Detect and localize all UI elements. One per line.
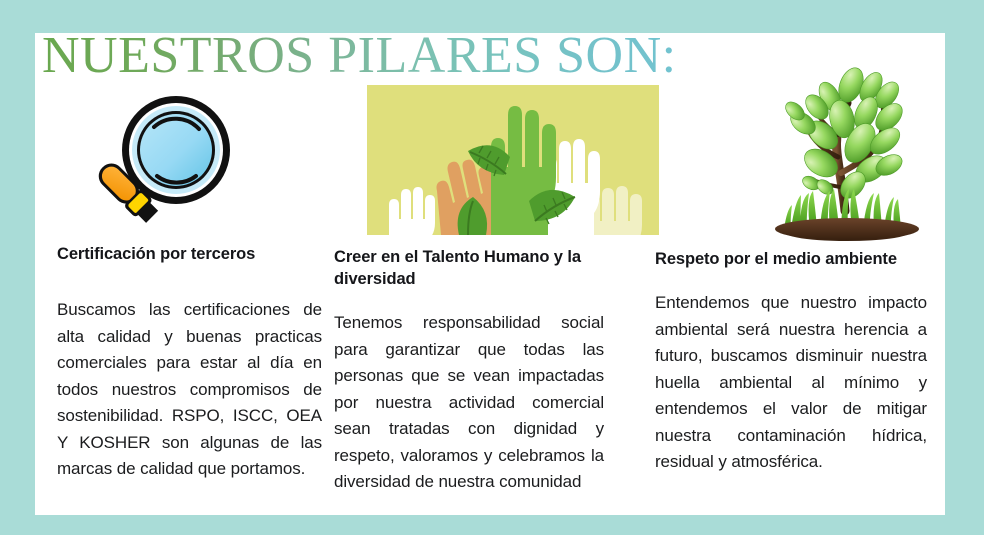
pillar-body-certificacion: Buscamos las certificaciones de alta cal… xyxy=(57,297,322,483)
pillar-heading-certificacion: Certificación por terceros xyxy=(57,243,322,265)
pillar-media-certificacion xyxy=(57,85,322,237)
raised-hands-illustration xyxy=(367,85,659,235)
pillar-column-talento-humano: Creer en el Talento Humano y la diversid… xyxy=(334,85,604,496)
page-title: NUESTROS PILARES SON: xyxy=(42,27,677,85)
slide-canvas: NUESTROS PILARES SON: xyxy=(0,0,984,535)
pillar-column-medio-ambiente: Respeto por el medio ambiente Entendemos… xyxy=(655,85,927,476)
pillar-body-medio-ambiente: Entendemos que nuestro impacto ambiental… xyxy=(655,290,927,476)
magnifying-glass-icon xyxy=(65,87,235,237)
content-panel: NUESTROS PILARES SON: xyxy=(35,33,945,515)
pillar-column-certificacion: Certificación por terceros Buscamos las … xyxy=(57,85,322,483)
pillar-heading-medio-ambiente: Respeto por el medio ambiente xyxy=(655,248,927,270)
pillar-media-talento-humano xyxy=(334,85,604,235)
pillar-body-talento-humano: Tenemos responsabilidad social para gara… xyxy=(334,310,604,496)
sapling-tree-illustration xyxy=(767,61,927,241)
pillar-heading-talento-humano: Creer en el Talento Humano y la diversid… xyxy=(334,246,604,290)
pillar-media-medio-ambiente xyxy=(655,61,927,241)
